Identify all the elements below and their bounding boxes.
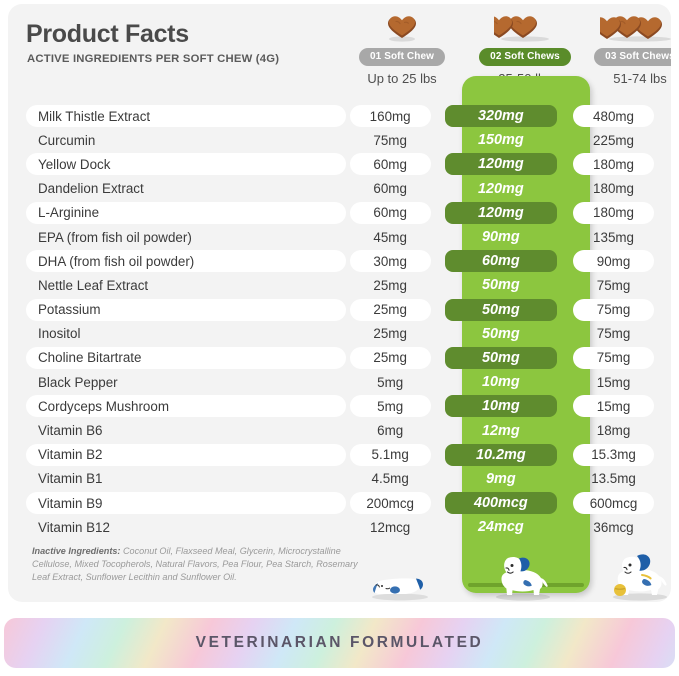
- ingredient-dose-col2: 60mg: [445, 250, 557, 272]
- table-row: Vitamin B1212mcg24mcg36mcg: [26, 515, 654, 539]
- table-row: Dandelion Extract60mg120mg180mg: [26, 177, 654, 201]
- ingredient-dose-col2: 400mcg: [445, 492, 557, 514]
- ingredient-name: EPA (from fish oil powder): [26, 226, 346, 248]
- ingredient-name: Choline Bitartrate: [26, 347, 346, 369]
- ingredient-dose-col1: 60mg: [350, 153, 431, 175]
- ingredient-name: Dandelion Extract: [26, 178, 346, 200]
- table-row: Yellow Dock60mg120mg180mg: [26, 152, 654, 176]
- chew-icons-2: [463, 10, 587, 46]
- ingredient-dose-col2: 9mg: [445, 468, 557, 490]
- ingredient-dose-col3: 75mg: [573, 274, 654, 296]
- ingredient-name: Cordyceps Mushroom: [26, 395, 346, 417]
- chew-icons-1: [340, 10, 464, 46]
- ingredient-dose-col1: 5.1mg: [350, 444, 431, 466]
- table-row: Vitamin B25.1mg10.2mg15.3mg: [26, 443, 654, 467]
- table-row: Inositol25mg50mg75mg: [26, 322, 654, 346]
- column-header-3: 03 Soft Chews 51-74 lbs: [578, 10, 671, 86]
- banner-text: VETERINARIAN FORMULATED: [196, 634, 484, 652]
- soft-chew-heart-icon: [600, 13, 671, 43]
- ingredient-dose-col3: 180mg: [573, 202, 654, 224]
- column-header-2: 02 Soft Chews 25-50 lbs: [463, 10, 587, 86]
- chew-icons-3: [578, 10, 671, 46]
- column-header-1: 01 Soft Chew Up to 25 lbs: [340, 10, 464, 86]
- ingredient-dose-col2: 150mg: [445, 129, 557, 151]
- ingredient-dose-col2: 120mg: [445, 202, 557, 224]
- table-row: L-Arginine60mg120mg180mg: [26, 201, 654, 225]
- ingredient-dose-col2: 320mg: [445, 105, 557, 127]
- ingredient-dose-col1: 12mcg: [350, 516, 431, 538]
- ingredient-dose-col1: 25mg: [350, 274, 431, 296]
- ingredient-name: Inositol: [26, 323, 346, 345]
- soft-chew-heart-icon: [494, 13, 556, 43]
- ingredient-dose-col1: 5mg: [350, 395, 431, 417]
- ingredient-dose-col1: 4.5mg: [350, 468, 431, 490]
- ingredient-dose-col3: 90mg: [573, 250, 654, 272]
- dog-standing-illustration: [486, 550, 560, 602]
- ingredient-name: Vitamin B9: [26, 492, 346, 514]
- ingredient-name: Black Pepper: [26, 371, 346, 393]
- ingredient-dose-col2: 120mg: [445, 153, 557, 175]
- ingredient-name: Nettle Leaf Extract: [26, 274, 346, 296]
- soft-chew-heart-icon: [385, 13, 419, 43]
- ingredient-dose-col3: 15.3mg: [573, 444, 654, 466]
- dog-sleeping-illustration: [364, 560, 434, 602]
- ingredient-name: Potassium: [26, 299, 346, 321]
- column-weight-range-3: 51-74 lbs: [578, 71, 671, 86]
- column-weight-range-1: Up to 25 lbs: [340, 71, 464, 86]
- ingredient-name: Milk Thistle Extract: [26, 105, 346, 127]
- ingredient-dose-col1: 60mg: [350, 202, 431, 224]
- table-row: Vitamin B66mg12mg18mg: [26, 418, 654, 442]
- ingredient-name: Yellow Dock: [26, 153, 346, 175]
- ingredient-name: L-Arginine: [26, 202, 346, 224]
- column-pill-label-1: 01 Soft Chew: [359, 48, 445, 66]
- dog-playing-illustration: [600, 549, 671, 602]
- table-row: Choline Bitartrate25mg50mg75mg: [26, 346, 654, 370]
- ingredient-dose-col2: 50mg: [445, 274, 557, 296]
- page-title: Product Facts: [26, 20, 189, 49]
- column-pill-label-2: 02 Soft Chews: [479, 48, 571, 66]
- ingredient-name: DHA (from fish oil powder): [26, 250, 346, 272]
- ingredient-dose-col3: 13.5mg: [573, 468, 654, 490]
- ingredient-dose-col2: 50mg: [445, 347, 557, 369]
- ingredients-table: Milk Thistle Extract160mg320mg480mgCurcu…: [26, 104, 654, 539]
- ingredient-dose-col1: 30mg: [350, 250, 431, 272]
- ball-icon: [614, 584, 626, 596]
- ingredient-name: Curcumin: [26, 129, 346, 151]
- ingredient-dose-col3: 15mg: [573, 371, 654, 393]
- ingredient-dose-col2: 10mg: [445, 371, 557, 393]
- ingredient-dose-col3: 18mg: [573, 420, 654, 442]
- ingredient-dose-col2: 10.2mg: [445, 444, 557, 466]
- ingredient-dose-col2: 50mg: [445, 299, 557, 321]
- table-row: Curcumin75mg150mg225mg: [26, 128, 654, 152]
- inactive-ingredients: Inactive Ingredients: Coconut Oil, Flaxs…: [32, 545, 362, 584]
- table-row: Vitamin B9200mcg400mcg600mcg: [26, 491, 654, 515]
- table-row: Vitamin B14.5mg9mg13.5mg: [26, 467, 654, 491]
- ingredient-dose-col1: 160mg: [350, 105, 431, 127]
- ingredient-dose-col2: 10mg: [445, 395, 557, 417]
- ingredient-dose-col1: 45mg: [350, 226, 431, 248]
- ingredient-name: Vitamin B12: [26, 516, 346, 538]
- ingredient-name: Vitamin B2: [26, 444, 346, 466]
- ingredient-dose-col2: 90mg: [445, 226, 557, 248]
- ingredient-name: Vitamin B6: [26, 420, 346, 442]
- veterinarian-formulated-banner: VETERINARIAN FORMULATED: [4, 618, 675, 668]
- product-facts-card: Product Facts ACTIVE INGREDIENTS PER SOF…: [8, 4, 671, 602]
- ingredient-dose-col1: 6mg: [350, 420, 431, 442]
- ingredient-dose-col3: 480mg: [573, 105, 654, 127]
- table-row: Cordyceps Mushroom5mg10mg15mg: [26, 394, 654, 418]
- ingredient-name: Vitamin B1: [26, 468, 346, 490]
- ingredient-dose-col2: 12mg: [445, 420, 557, 442]
- ingredient-dose-col3: 75mg: [573, 299, 654, 321]
- ingredient-dose-col3: 36mcg: [573, 516, 654, 538]
- table-row: Milk Thistle Extract160mg320mg480mg: [26, 104, 654, 128]
- ingredient-dose-col1: 25mg: [350, 323, 431, 345]
- ingredient-dose-col1: 25mg: [350, 347, 431, 369]
- inactive-ingredients-label: Inactive Ingredients:: [32, 546, 120, 556]
- table-row: Black Pepper5mg10mg15mg: [26, 370, 654, 394]
- table-row: DHA (from fish oil powder)30mg60mg90mg: [26, 249, 654, 273]
- product-facts-page: Product Facts ACTIVE INGREDIENTS PER SOF…: [0, 0, 679, 676]
- ingredient-dose-col3: 15mg: [573, 395, 654, 417]
- ingredient-dose-col1: 75mg: [350, 129, 431, 151]
- ingredient-dose-col1: 200mcg: [350, 492, 431, 514]
- table-row: EPA (from fish oil powder)45mg90mg135mg: [26, 225, 654, 249]
- ingredient-dose-col3: 180mg: [573, 178, 654, 200]
- ingredient-dose-col3: 600mcg: [573, 492, 654, 514]
- ingredient-dose-col2: 50mg: [445, 323, 557, 345]
- ingredient-dose-col2: 120mg: [445, 178, 557, 200]
- ingredient-dose-col2: 24mcg: [445, 516, 557, 538]
- ingredient-dose-col3: 225mg: [573, 129, 654, 151]
- ingredient-dose-col1: 5mg: [350, 371, 431, 393]
- ingredient-dose-col1: 25mg: [350, 299, 431, 321]
- table-row: Nettle Leaf Extract25mg50mg75mg: [26, 273, 654, 297]
- ingredient-dose-col3: 75mg: [573, 323, 654, 345]
- ingredient-dose-col3: 135mg: [573, 226, 654, 248]
- ingredient-dose-col3: 180mg: [573, 153, 654, 175]
- ingredient-dose-col1: 60mg: [350, 178, 431, 200]
- ingredient-dose-col3: 75mg: [573, 347, 654, 369]
- table-row: Potassium25mg50mg75mg: [26, 298, 654, 322]
- page-subtitle: ACTIVE INGREDIENTS PER SOFT CHEW (4G): [27, 53, 279, 65]
- column-pill-label-3: 03 Soft Chews: [594, 48, 671, 66]
